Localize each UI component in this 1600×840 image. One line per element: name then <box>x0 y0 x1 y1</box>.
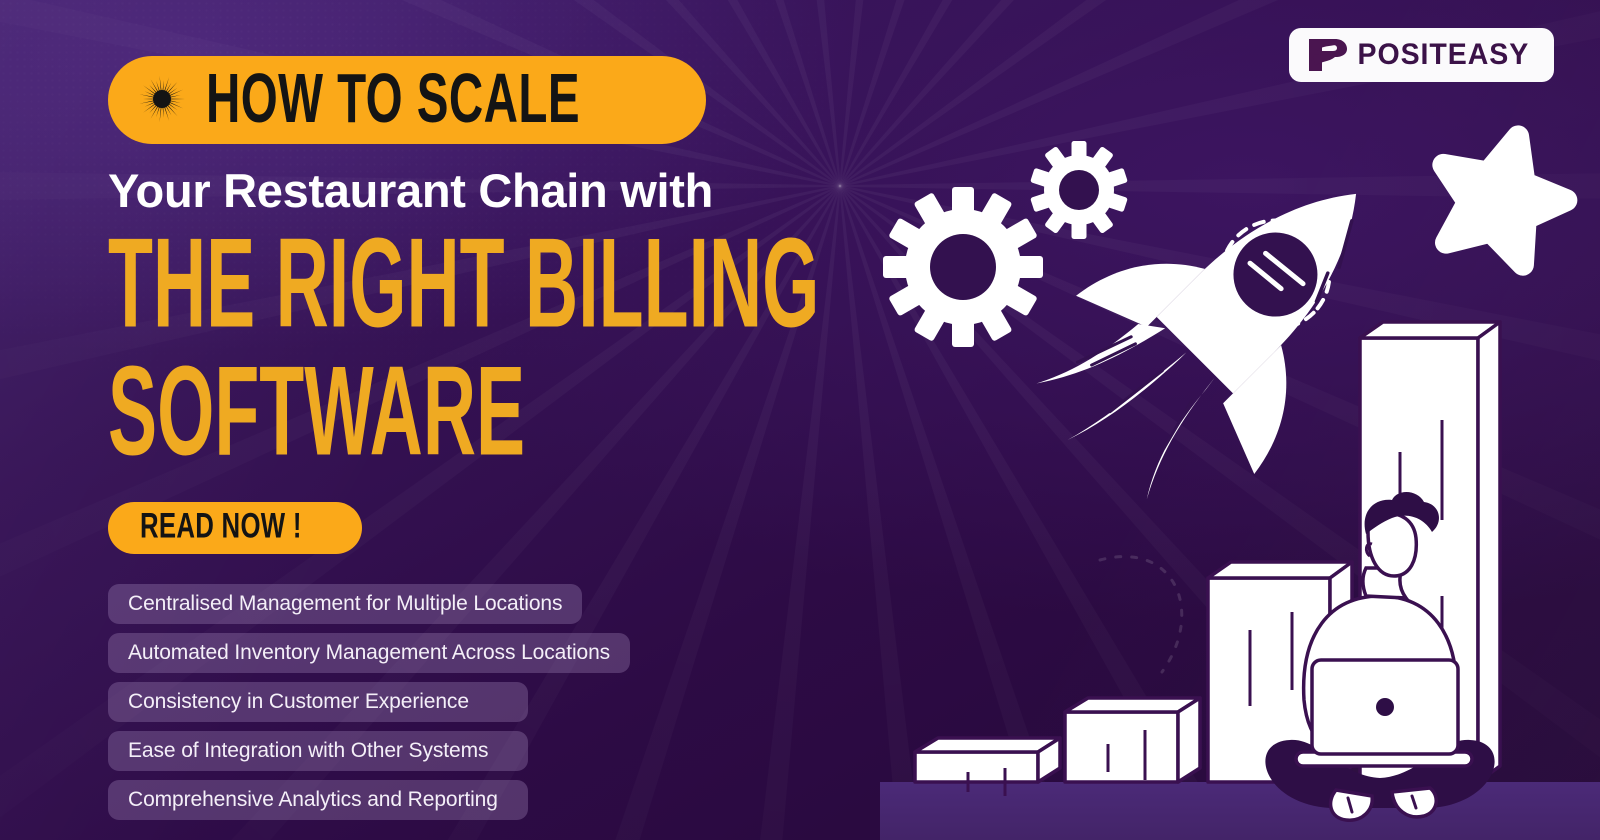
read-now-button[interactable]: READ NOW ! <box>108 502 362 554</box>
logo-text: POSITEASY <box>1358 40 1530 70</box>
star-icon <box>1423 119 1580 272</box>
promo-banner: POSITEASY HOW TO SCALE Your Restaurant C… <box>0 0 1600 840</box>
floor-band <box>880 782 1600 840</box>
banner-content: HOW TO SCALE Your Restaurant Chain with … <box>108 56 808 829</box>
positeasy-p-mark-icon <box>1305 35 1349 75</box>
gear-icon <box>883 187 1043 347</box>
feature-list: Centralised Management for Multiple Loca… <box>108 584 808 820</box>
list-item[interactable]: Consistency in Customer Experience <box>108 682 528 722</box>
feature-label: Comprehensive Analytics and Reporting <box>128 788 498 812</box>
positeasy-logo[interactable]: POSITEASY <box>1289 28 1554 82</box>
decorative-dotted-arc <box>1100 557 1182 672</box>
list-item[interactable]: Ease of Integration with Other Systems <box>108 731 528 771</box>
gear-icon <box>1030 141 1128 239</box>
feature-label: Ease of Integration with Other Systems <box>128 739 488 763</box>
starburst-icon <box>138 75 186 123</box>
subheading: Your Restaurant Chain with <box>108 166 808 215</box>
feature-label: Centralised Management for Multiple Loca… <box>128 592 562 616</box>
list-item[interactable]: Centralised Management for Multiple Loca… <box>108 584 582 624</box>
cta-label: READ NOW ! <box>140 507 302 547</box>
list-item[interactable]: Automated Inventory Management Across Lo… <box>108 633 630 673</box>
list-item[interactable]: Comprehensive Analytics and Reporting <box>108 780 528 820</box>
feature-label: Consistency in Customer Experience <box>128 690 469 714</box>
headline-line-2: SOFTWARE <box>108 351 668 474</box>
feature-label: Automated Inventory Management Across Lo… <box>128 641 610 665</box>
growth-bar-chart-icon <box>915 322 1500 796</box>
rocket-icon <box>1000 105 1445 550</box>
page-title: THE RIGHT BILLING SOFTWARE <box>108 223 808 439</box>
person-with-laptop-icon <box>1265 492 1494 820</box>
badge-label: HOW TO SCALE <box>206 64 580 134</box>
how-to-scale-badge: HOW TO SCALE <box>108 56 706 144</box>
headline-line-1: THE RIGHT BILLING <box>108 223 668 346</box>
